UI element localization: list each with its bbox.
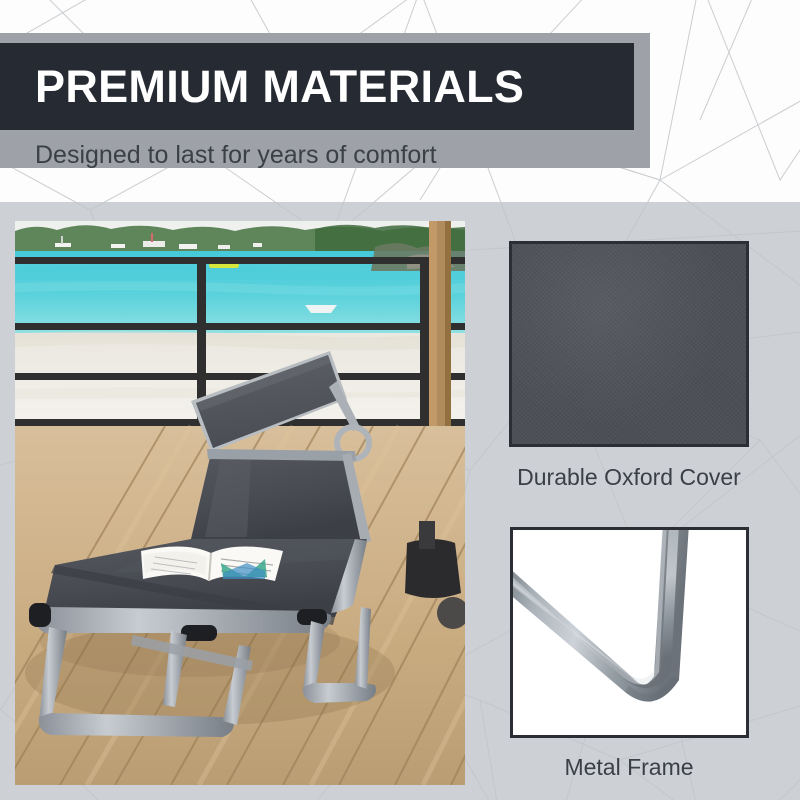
product-lifestyle-photo [15,221,465,785]
feature-swatch-metal-frame [510,527,749,738]
feature-label-metal-frame: Metal Frame [489,752,769,782]
feature-label-durable-oxford-cover: Durable Oxford Cover [489,462,769,492]
feature-swatch-durable-oxford-cover [509,241,749,447]
page-title: PREMIUM MATERIALS [35,52,524,122]
fabric-sheen-overlay [512,244,746,444]
infographic-canvas: PREMIUM MATERIALS Designed to last for y… [0,0,800,800]
page-subtitle: Designed to last for years of comfort [35,139,437,171]
